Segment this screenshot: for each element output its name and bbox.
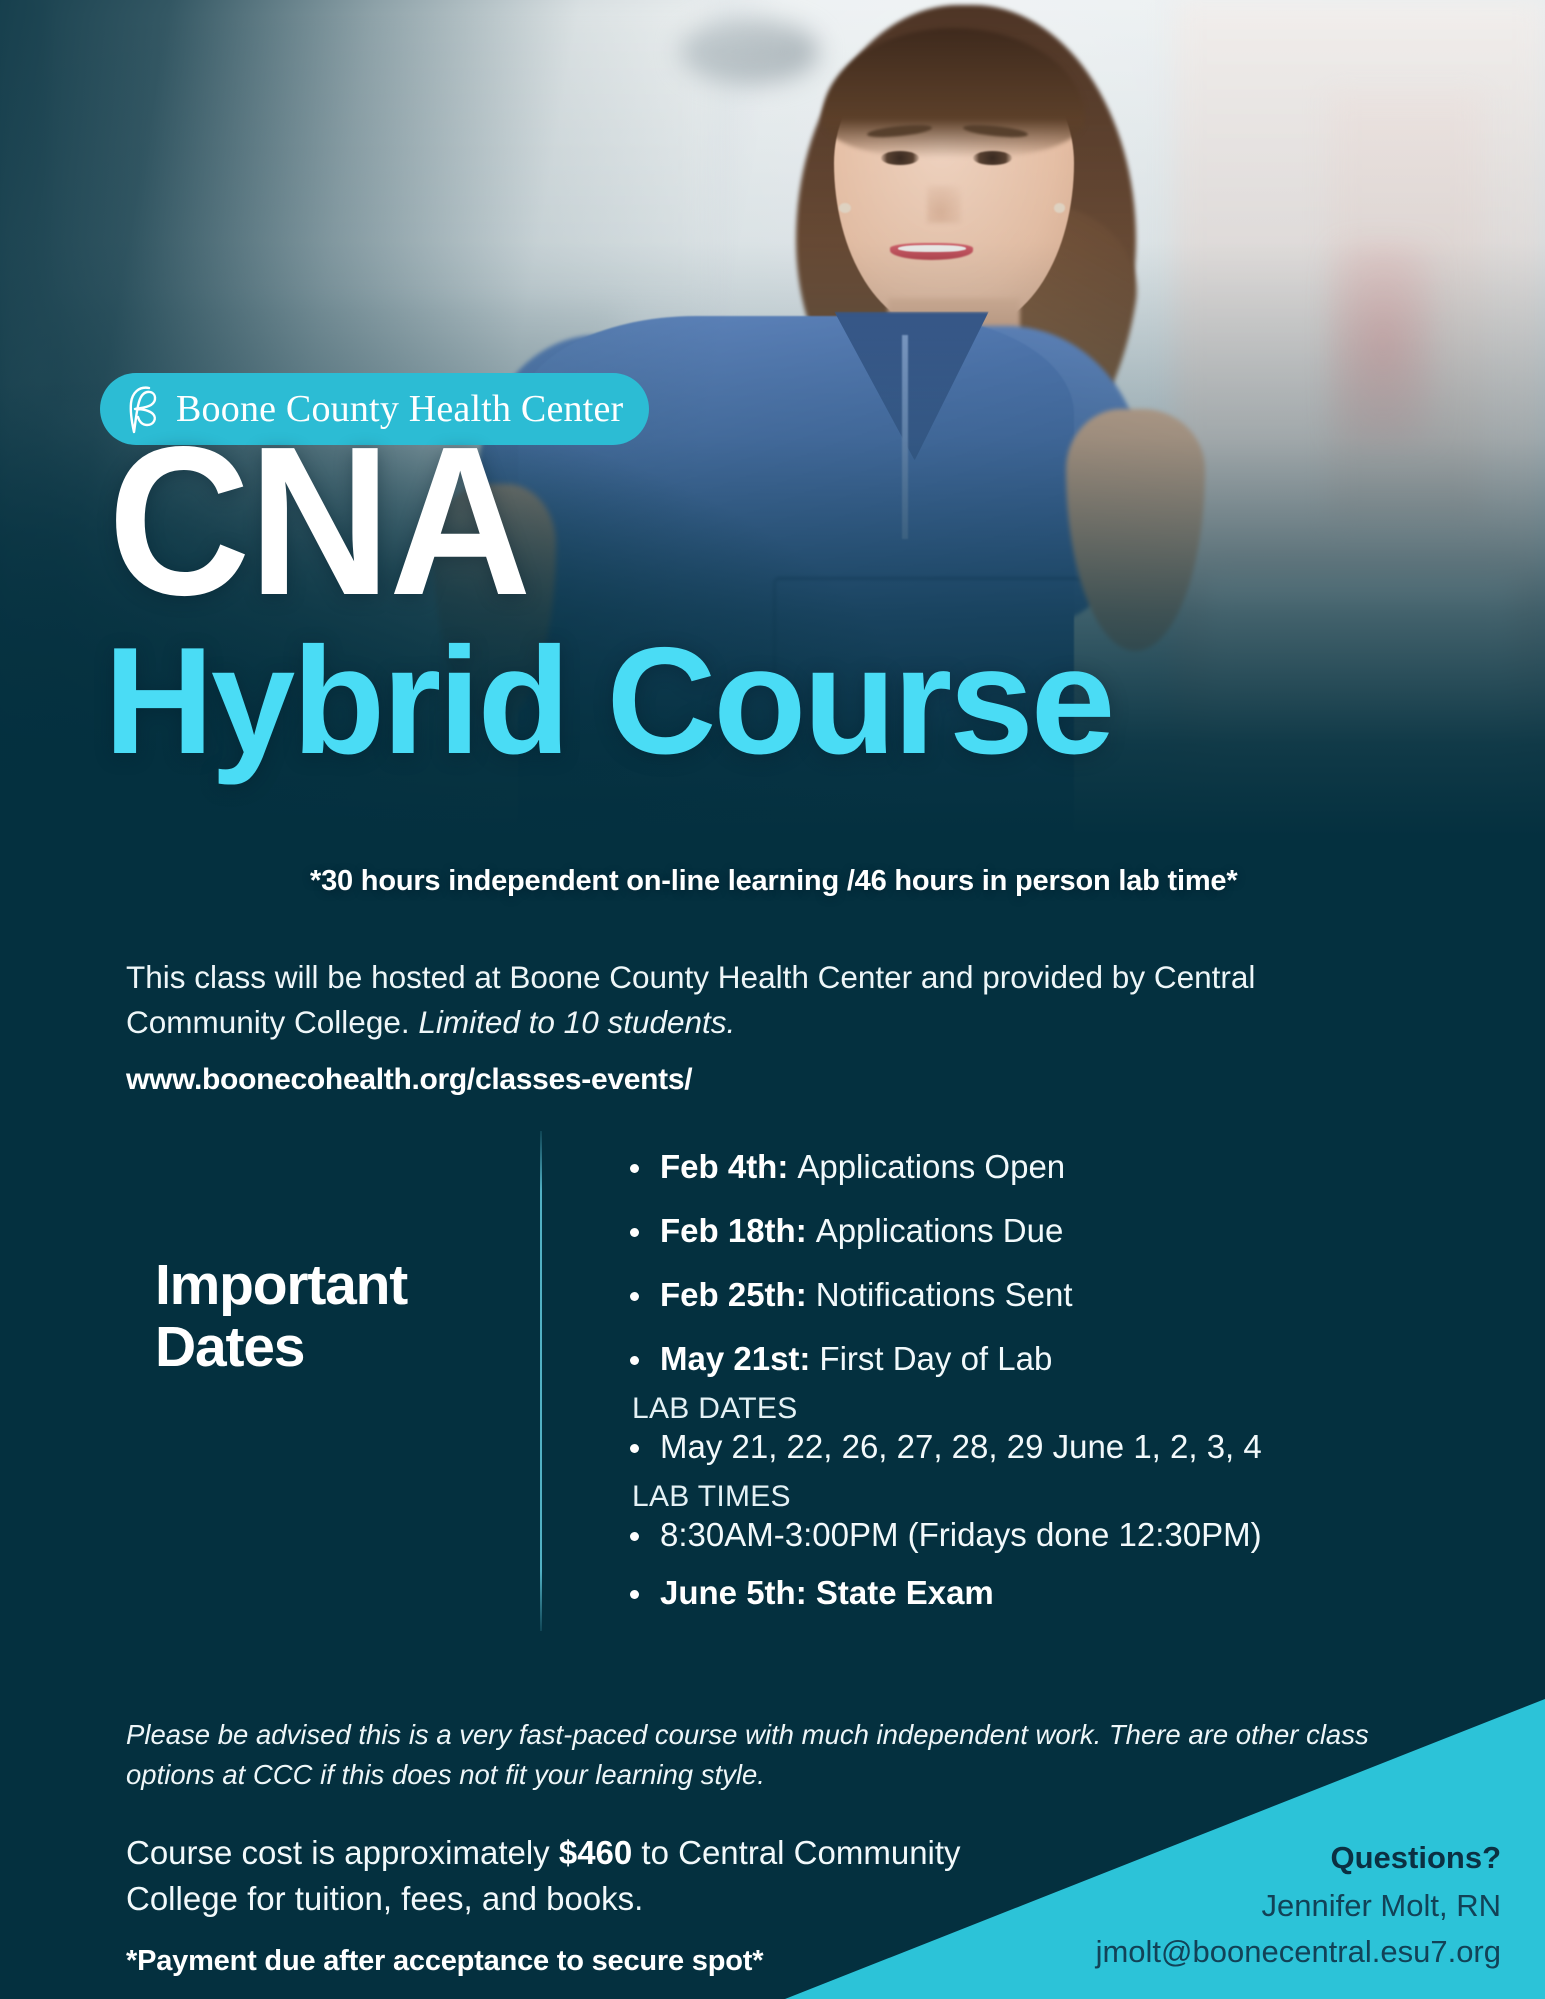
cost-amount: $460 [559,1834,632,1871]
cost-prefix: Course cost is approximately [126,1834,559,1871]
title-subtitle: *30 hours independent on-line learning /… [310,865,1237,898]
list-item: Feb 4th: Applications Open [620,1148,1440,1186]
title-cna: CNA [108,432,530,610]
dates-list: Feb 4th: Applications Open Feb 18th: App… [620,1148,1440,1638]
date-value: Notifications Sent [816,1276,1073,1314]
section-divider [540,1131,542,1631]
list-item: Feb 18th: Applications Due [620,1212,1440,1250]
list-item: 8:30AM-3:00PM (Fridays done 12:30PM) [620,1516,1440,1554]
website-url[interactable]: www.boonecohealth.org/classes-events/ [126,1063,692,1097]
lab-times-value: 8:30AM-3:00PM (Fridays done 12:30PM) [660,1516,1262,1554]
date-value: First Day of Lab [819,1340,1052,1378]
date-label: May 21st: [660,1340,810,1378]
contact-email[interactable]: jmolt@boonecentral.esu7.org [1096,1931,1501,1973]
intro-paragraph: This class will be hosted at Boone Count… [126,955,1316,1044]
date-value: Applications Open [797,1148,1065,1186]
flyer-page: Boone County Health Center CNA Hybrid Co… [0,0,1545,1999]
important-dates-heading: Important Dates [155,1255,407,1378]
state-exam-value: June 5th: State Exam [660,1574,994,1612]
list-item: June 5th: State Exam [620,1574,1440,1612]
lab-dates-value: May 21, 22, 26, 27, 28, 29 June 1, 2, 3,… [660,1428,1262,1466]
lab-dates-heading: LAB DATES [620,1392,1440,1426]
date-value: Applications Due [816,1212,1064,1250]
contact-block: Questions? Jennifer Molt, RN jmolt@boone… [1096,1837,1501,1973]
lab-times-heading: LAB TIMES [620,1480,1440,1514]
contact-heading: Questions? [1096,1837,1501,1879]
intro-limit-note: Limited to 10 students. [418,1004,735,1040]
list-item: Feb 25th: Notifications Sent [620,1276,1440,1314]
list-item: May 21, 22, 26, 27, 28, 29 June 1, 2, 3,… [620,1428,1440,1466]
date-label: Feb 4th: [660,1148,788,1186]
contact-name: Jennifer Molt, RN [1096,1885,1501,1927]
payment-note: *Payment due after acceptance to secure … [126,1945,763,1978]
list-item: May 21st: First Day of Lab [620,1340,1440,1378]
date-label: Feb 18th: [660,1212,807,1250]
cost-paragraph: Course cost is approximately $460 to Cen… [126,1830,1056,1921]
title-hybrid-course: Hybrid Course [104,632,1112,772]
date-label: Feb 25th: [660,1276,807,1314]
important-dates-line1: Important [155,1255,407,1317]
important-dates-line2: Dates [155,1317,407,1379]
advisory-note: Please be advised this is a very fast-pa… [126,1715,1416,1795]
